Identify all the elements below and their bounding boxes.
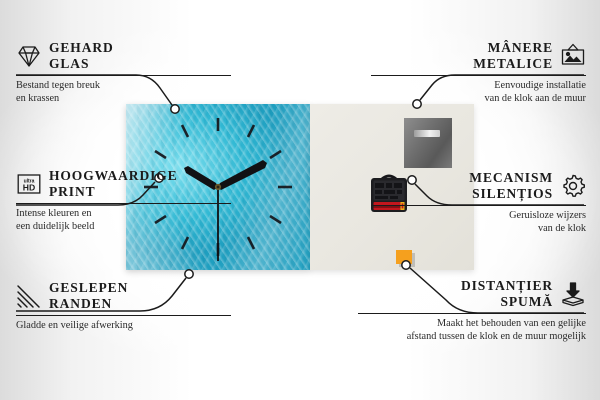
feature-hd-print[interactable]: ultra HD HOOGWAARDIGE PRINT Intense kleu… bbox=[16, 168, 231, 234]
feature-title: GESLEPEN RANDEN bbox=[49, 280, 128, 312]
feature-subtitle: Geruisloze wijzers van de klok bbox=[371, 209, 586, 236]
hd-large-label: HD bbox=[23, 183, 35, 193]
feature-silent-mechanism[interactable]: MECANISM SILENȚIOS Geruisloze wijzers va… bbox=[371, 170, 586, 236]
feature-subtitle: Bestand tegen breuk en krassen bbox=[16, 79, 231, 106]
feature-title: MÂNERE METALICE bbox=[473, 40, 553, 72]
feature-rule bbox=[16, 75, 231, 76]
feature-rule bbox=[371, 205, 586, 206]
feature-subtitle: Maakt het behouden van een gelijke afsta… bbox=[358, 317, 586, 344]
feature-rule bbox=[16, 315, 231, 316]
feature-heading: GEHARD GLAS bbox=[16, 40, 231, 72]
feature-rule bbox=[358, 313, 586, 314]
ultra-hd-icon: ultra HD bbox=[16, 171, 42, 197]
feature-heading: MÂNERE METALICE bbox=[371, 40, 586, 72]
feature-metal-handles[interactable]: MÂNERE METALICE Eenvoudige installatie v… bbox=[371, 40, 586, 106]
feature-title: DISTANȚIER SPUMĂ bbox=[461, 278, 553, 310]
feature-polished-edges[interactable]: GESLEPEN RANDEN Gladde en veilige afwerk… bbox=[16, 280, 231, 332]
wall-frame-icon bbox=[560, 43, 586, 69]
feature-foam-spacer[interactable]: DISTANȚIER SPUMĂ Maakt het behouden van … bbox=[358, 278, 586, 344]
diamond-icon bbox=[16, 43, 42, 69]
infographic-canvas: GEHARD GLAS Bestand tegen breuk en krass… bbox=[0, 0, 600, 400]
feature-subtitle: Intense kleuren en een duidelijk beeld bbox=[16, 207, 231, 234]
gear-icon bbox=[560, 173, 586, 199]
feature-title: GEHARD GLAS bbox=[49, 40, 114, 72]
feature-title: MECANISM SILENȚIOS bbox=[469, 170, 553, 202]
feature-subtitle: Gladde en veilige afwerking bbox=[16, 319, 231, 333]
feature-rule bbox=[16, 203, 231, 204]
feature-tempered-glass[interactable]: GEHARD GLAS Bestand tegen breuk en krass… bbox=[16, 40, 231, 106]
feature-heading: GESLEPEN RANDEN bbox=[16, 280, 231, 312]
press-pad-icon bbox=[560, 281, 586, 307]
feature-title: HOOGWAARDIGE PRINT bbox=[49, 168, 178, 200]
feature-heading: MECANISM SILENȚIOS bbox=[371, 170, 586, 202]
feature-rule bbox=[371, 75, 586, 76]
feature-heading: DISTANȚIER SPUMĂ bbox=[358, 278, 586, 310]
feature-heading: ultra HD HOOGWAARDIGE PRINT bbox=[16, 168, 231, 200]
feature-subtitle: Eenvoudige installatie van de klok aan d… bbox=[371, 79, 586, 106]
beveled-edge-icon bbox=[16, 283, 42, 309]
